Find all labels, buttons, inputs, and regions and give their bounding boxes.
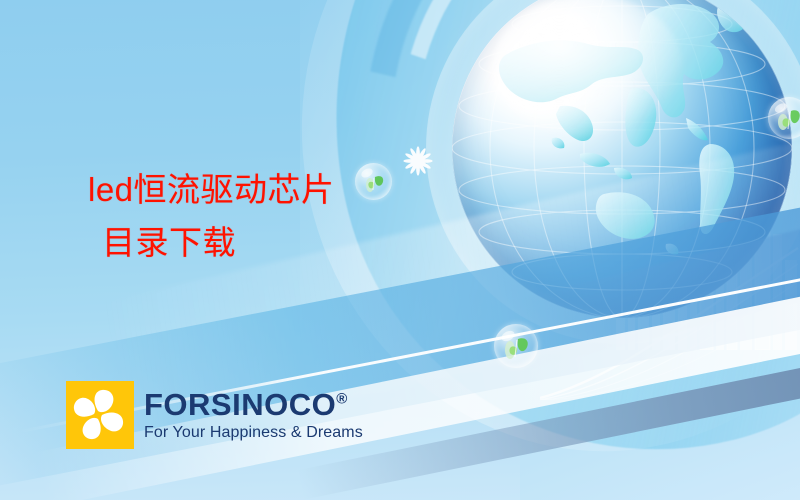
banner-canvas: led恒流驱动芯片 目录下载 FORSINOCO® For Your Happi…: [0, 0, 800, 500]
logo-company-name: FORSINOCO®: [144, 388, 363, 422]
headline-line-1: led恒流驱动芯片: [88, 171, 335, 208]
bubble-with-green-leaf-icon: [768, 97, 800, 139]
logo-tagline: For Your Happiness & Dreams: [144, 423, 363, 442]
banner-headline: led恒流驱动芯片 目录下载: [88, 163, 335, 269]
globe-sphere: [452, 0, 792, 318]
daisy-flower-icon: [402, 145, 434, 177]
company-logo[interactable]: FORSINOCO® For Your Happiness & Dreams: [66, 381, 363, 449]
bubble-with-green-leaf-icon: [355, 163, 392, 200]
headline-line-2: 目录下载: [88, 216, 335, 269]
registered-trademark-icon: ®: [336, 391, 348, 408]
bubble-with-green-leaf-icon: [494, 324, 538, 368]
four-petal-pinwheel-icon: [66, 381, 134, 449]
globe-specular-highlight: [493, 0, 683, 138]
logo-text-block: FORSINOCO® For Your Happiness & Dreams: [144, 388, 363, 442]
earth-globe-icon: [452, 0, 792, 318]
logo-company-name-text: FORSINOCO: [144, 387, 336, 422]
